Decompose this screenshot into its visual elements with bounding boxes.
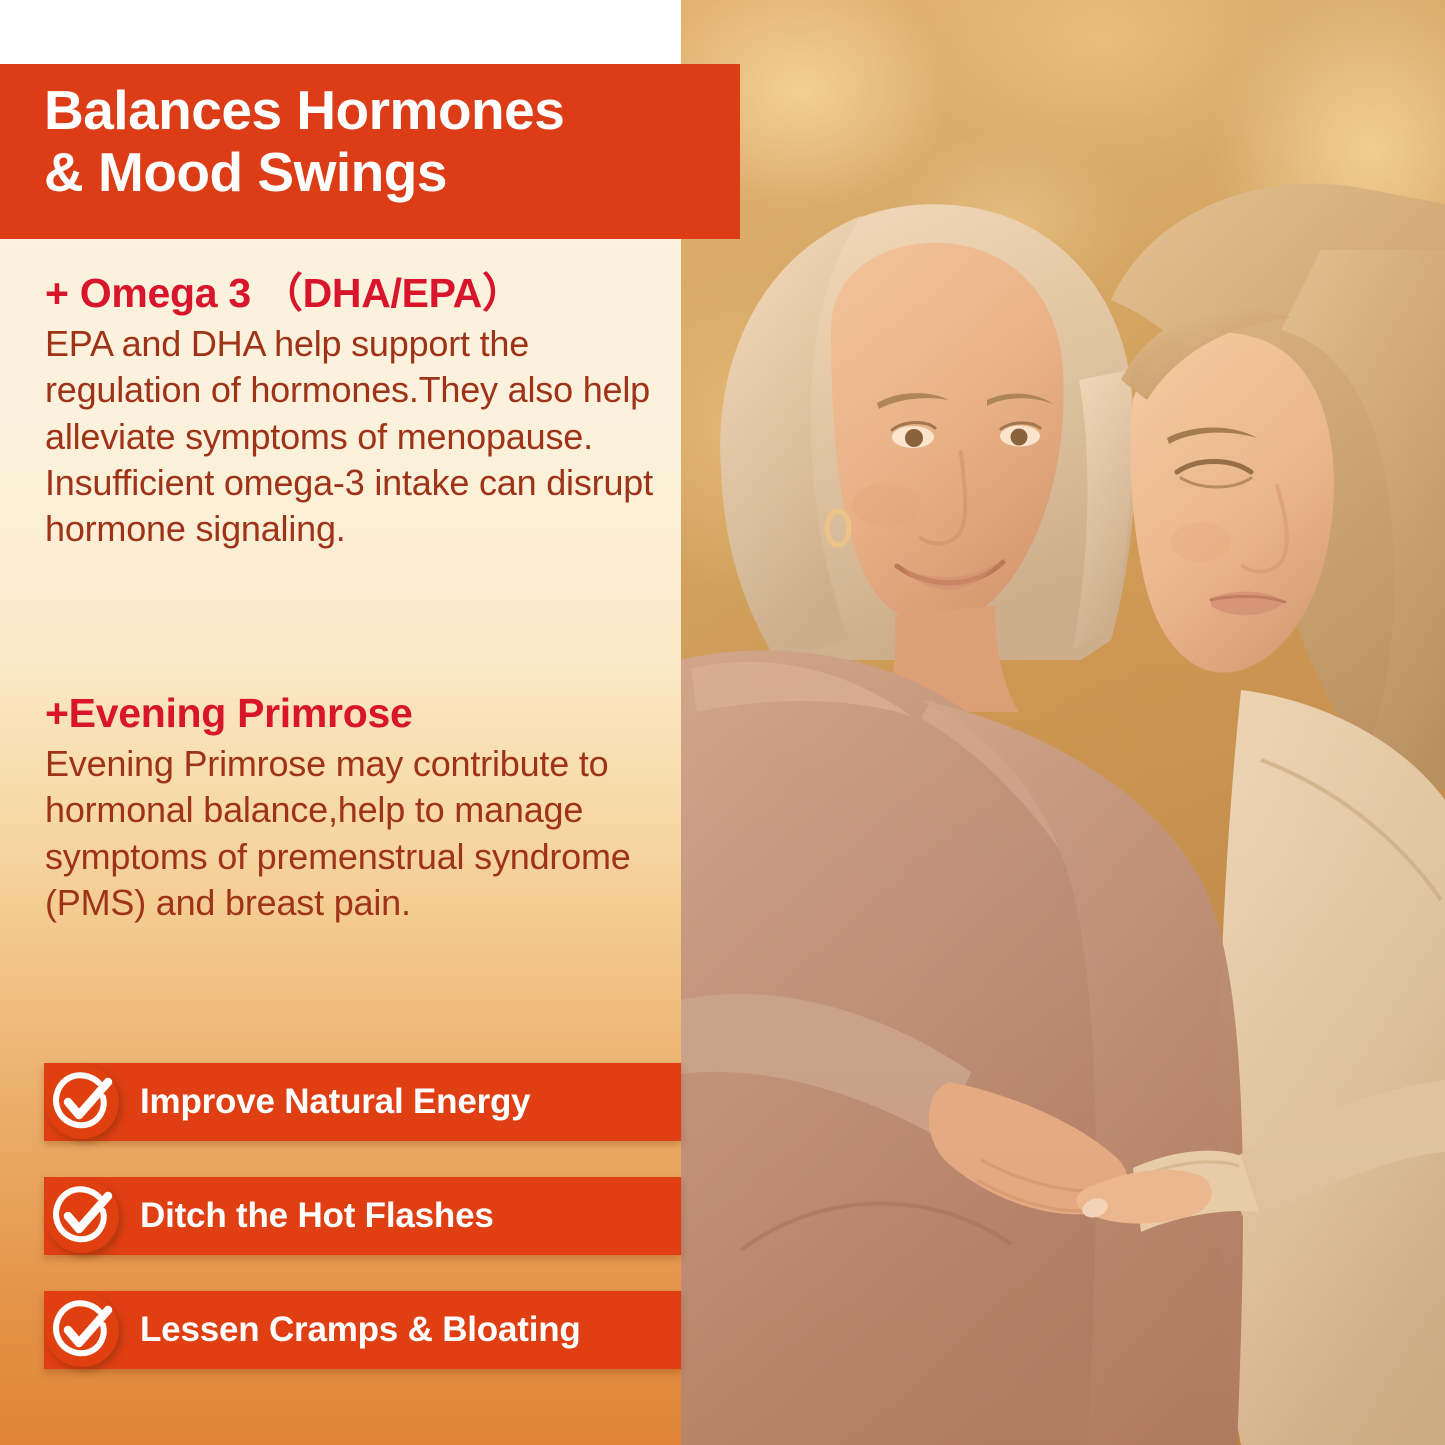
check-circle-glyph <box>45 1293 119 1367</box>
check-circle-icon <box>45 1293 119 1367</box>
photo-illustration <box>681 0 1445 1445</box>
section-evening-primrose: +Evening Primrose Evening Primrose may c… <box>45 692 670 926</box>
section-body-omega-3: EPA and DHA help support the regulation … <box>45 321 670 552</box>
check-circle-icon <box>45 1179 119 1253</box>
benefit-item-3: Lessen Cramps & Bloating <box>0 1291 681 1369</box>
header-banner: Balances Hormones & Mood Swings <box>0 64 740 239</box>
infographic-canvas: Balances Hormones & Mood Swings + Omega … <box>0 0 1445 1445</box>
benefit-item-2: Ditch the Hot Flashes <box>0 1177 681 1255</box>
page-title: Balances Hormones & Mood Swings <box>44 80 734 203</box>
check-circle-icon <box>45 1065 119 1139</box>
benefit-item-1: Improve Natural Energy <box>0 1063 681 1141</box>
section-body-evening-primrose: Evening Primrose may contribute to hormo… <box>45 741 670 926</box>
check-circle-glyph <box>45 1065 119 1139</box>
lifestyle-photo <box>681 0 1445 1445</box>
benefit-label-3: Lessen Cramps & Bloating <box>140 1291 581 1369</box>
benefits-list: Improve Natural Energy Ditch the Hot Fla… <box>0 1063 681 1405</box>
section-heading-omega-3: + Omega 3 （DHA/EPA） <box>45 272 670 315</box>
benefit-label-1: Improve Natural Energy <box>140 1063 530 1141</box>
benefit-label-2: Ditch the Hot Flashes <box>140 1177 494 1255</box>
check-circle-glyph <box>45 1179 119 1253</box>
section-heading-evening-primrose: +Evening Primrose <box>45 692 670 735</box>
section-omega-3: + Omega 3 （DHA/EPA） EPA and DHA help sup… <box>45 272 670 552</box>
